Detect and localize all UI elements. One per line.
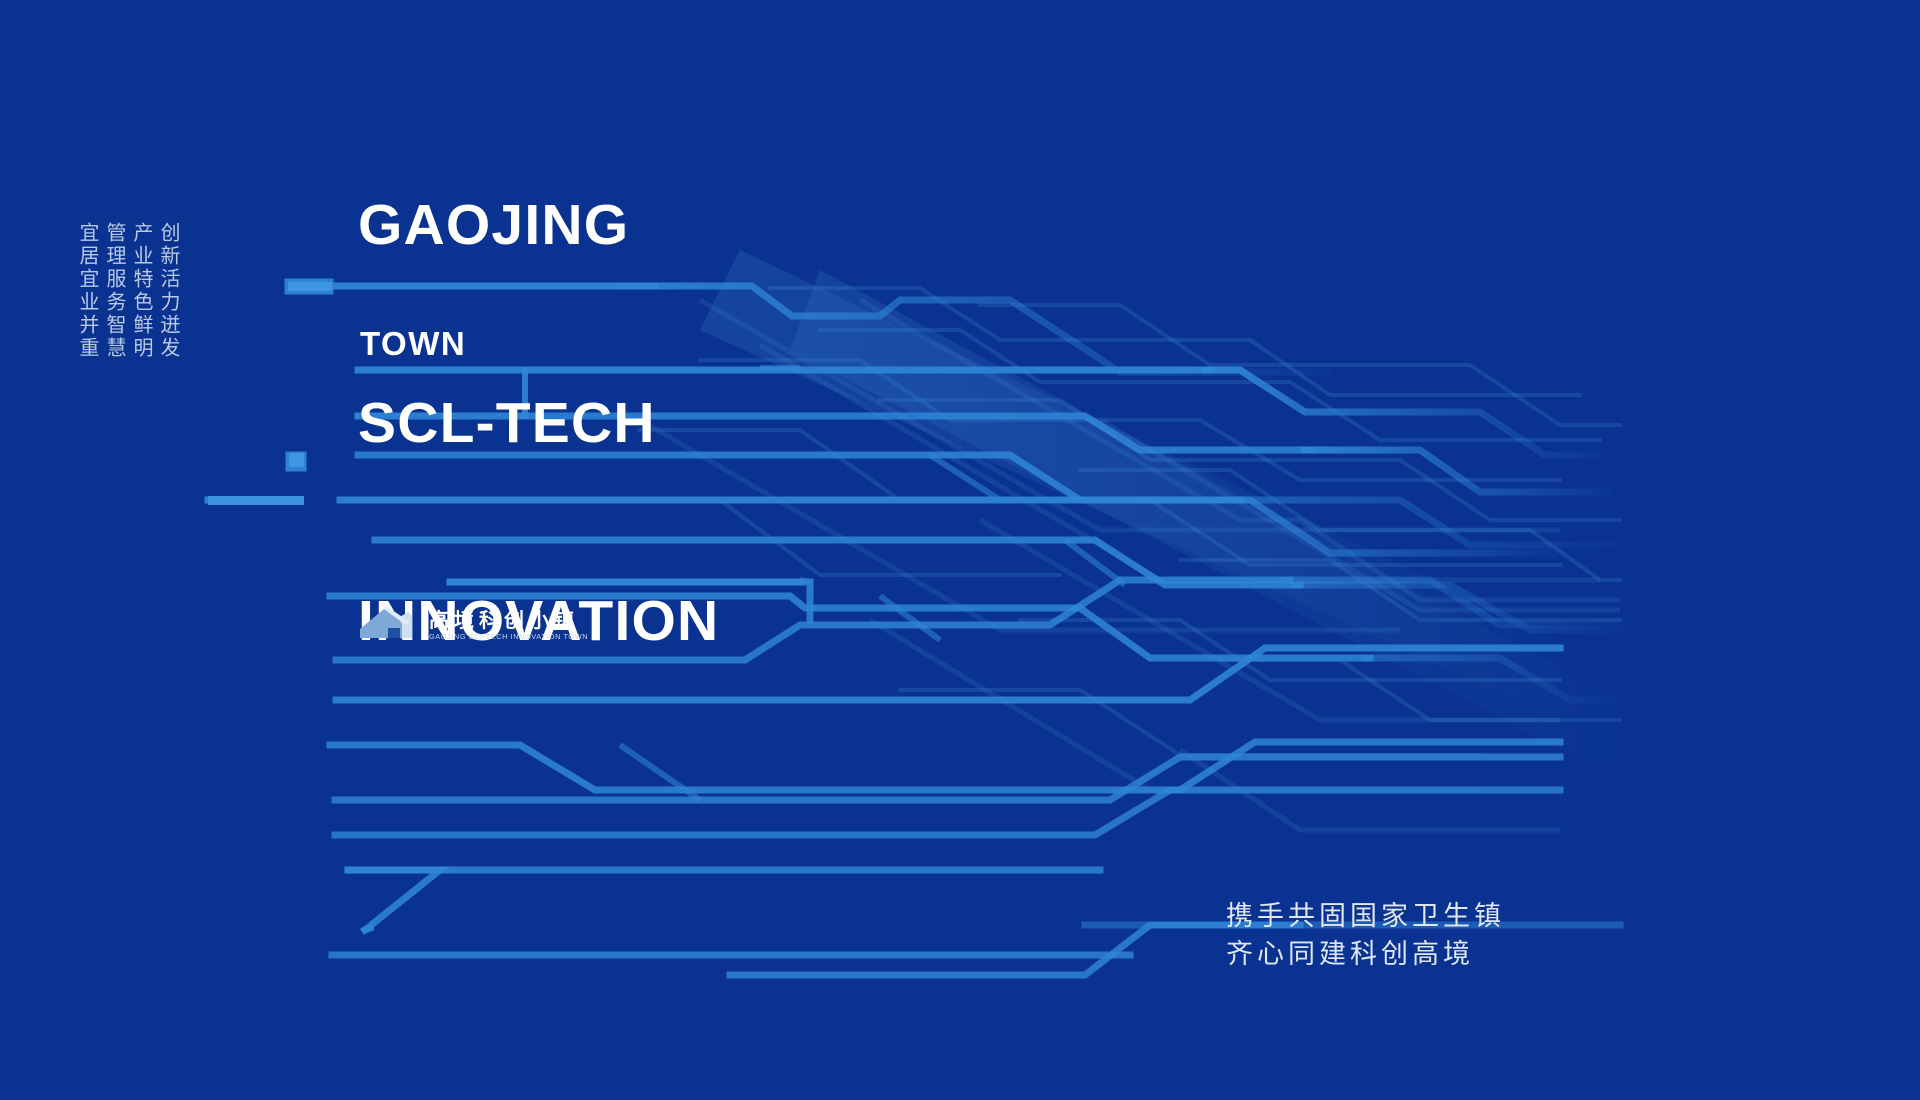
accent-segments: [208, 282, 332, 505]
circuit-background-pattern: [0, 0, 1920, 1100]
headline-line-2: SCL-TECH: [358, 390, 719, 456]
vertical-slogan-col-2: 产业特色鲜明: [132, 222, 152, 360]
logo-text-block: 高境科创小镇 GAOJING SCI-TECH INNOVATION TOWN: [429, 610, 588, 640]
logo-chinese-name: 高境科创小镇: [429, 610, 588, 630]
headline-line-1: GAOJING: [358, 192, 719, 258]
brand-logo: 高境科创小镇 GAOJING SCI-TECH INNOVATION TOWN: [358, 604, 588, 646]
page-title: GAOJING SCL-TECH INNOVATION: [358, 60, 719, 786]
vertical-slogan-block: 创新活力迸发 产业特色鲜明 管理服务智慧 宜居宜业并重: [78, 222, 179, 360]
house-logo-icon: [358, 604, 418, 646]
bottom-slogan-line-2: 齐心同建科创高境: [1226, 936, 1505, 974]
vertical-slogan-col-1: 创新活力迸发: [159, 222, 179, 360]
vertical-slogan-col-3: 管理服务智慧: [105, 222, 125, 360]
bottom-slogan-line-1: 携手共固国家卫生镇: [1226, 898, 1505, 936]
vertical-slogan-col-4: 宜居宜业并重: [78, 222, 98, 360]
logo-english-name: GAOJING SCI-TECH INNOVATION TOWN: [429, 633, 588, 640]
headline-line-4: TOWN: [360, 325, 466, 363]
poster-canvas: 创新活力迸发 产业特色鲜明 管理服务智慧 宜居宜业并重 GAOJING SCL-…: [0, 0, 1920, 1100]
bottom-slogan-block: 携手共固国家卫生镇 齐心同建科创高境: [1226, 898, 1505, 974]
